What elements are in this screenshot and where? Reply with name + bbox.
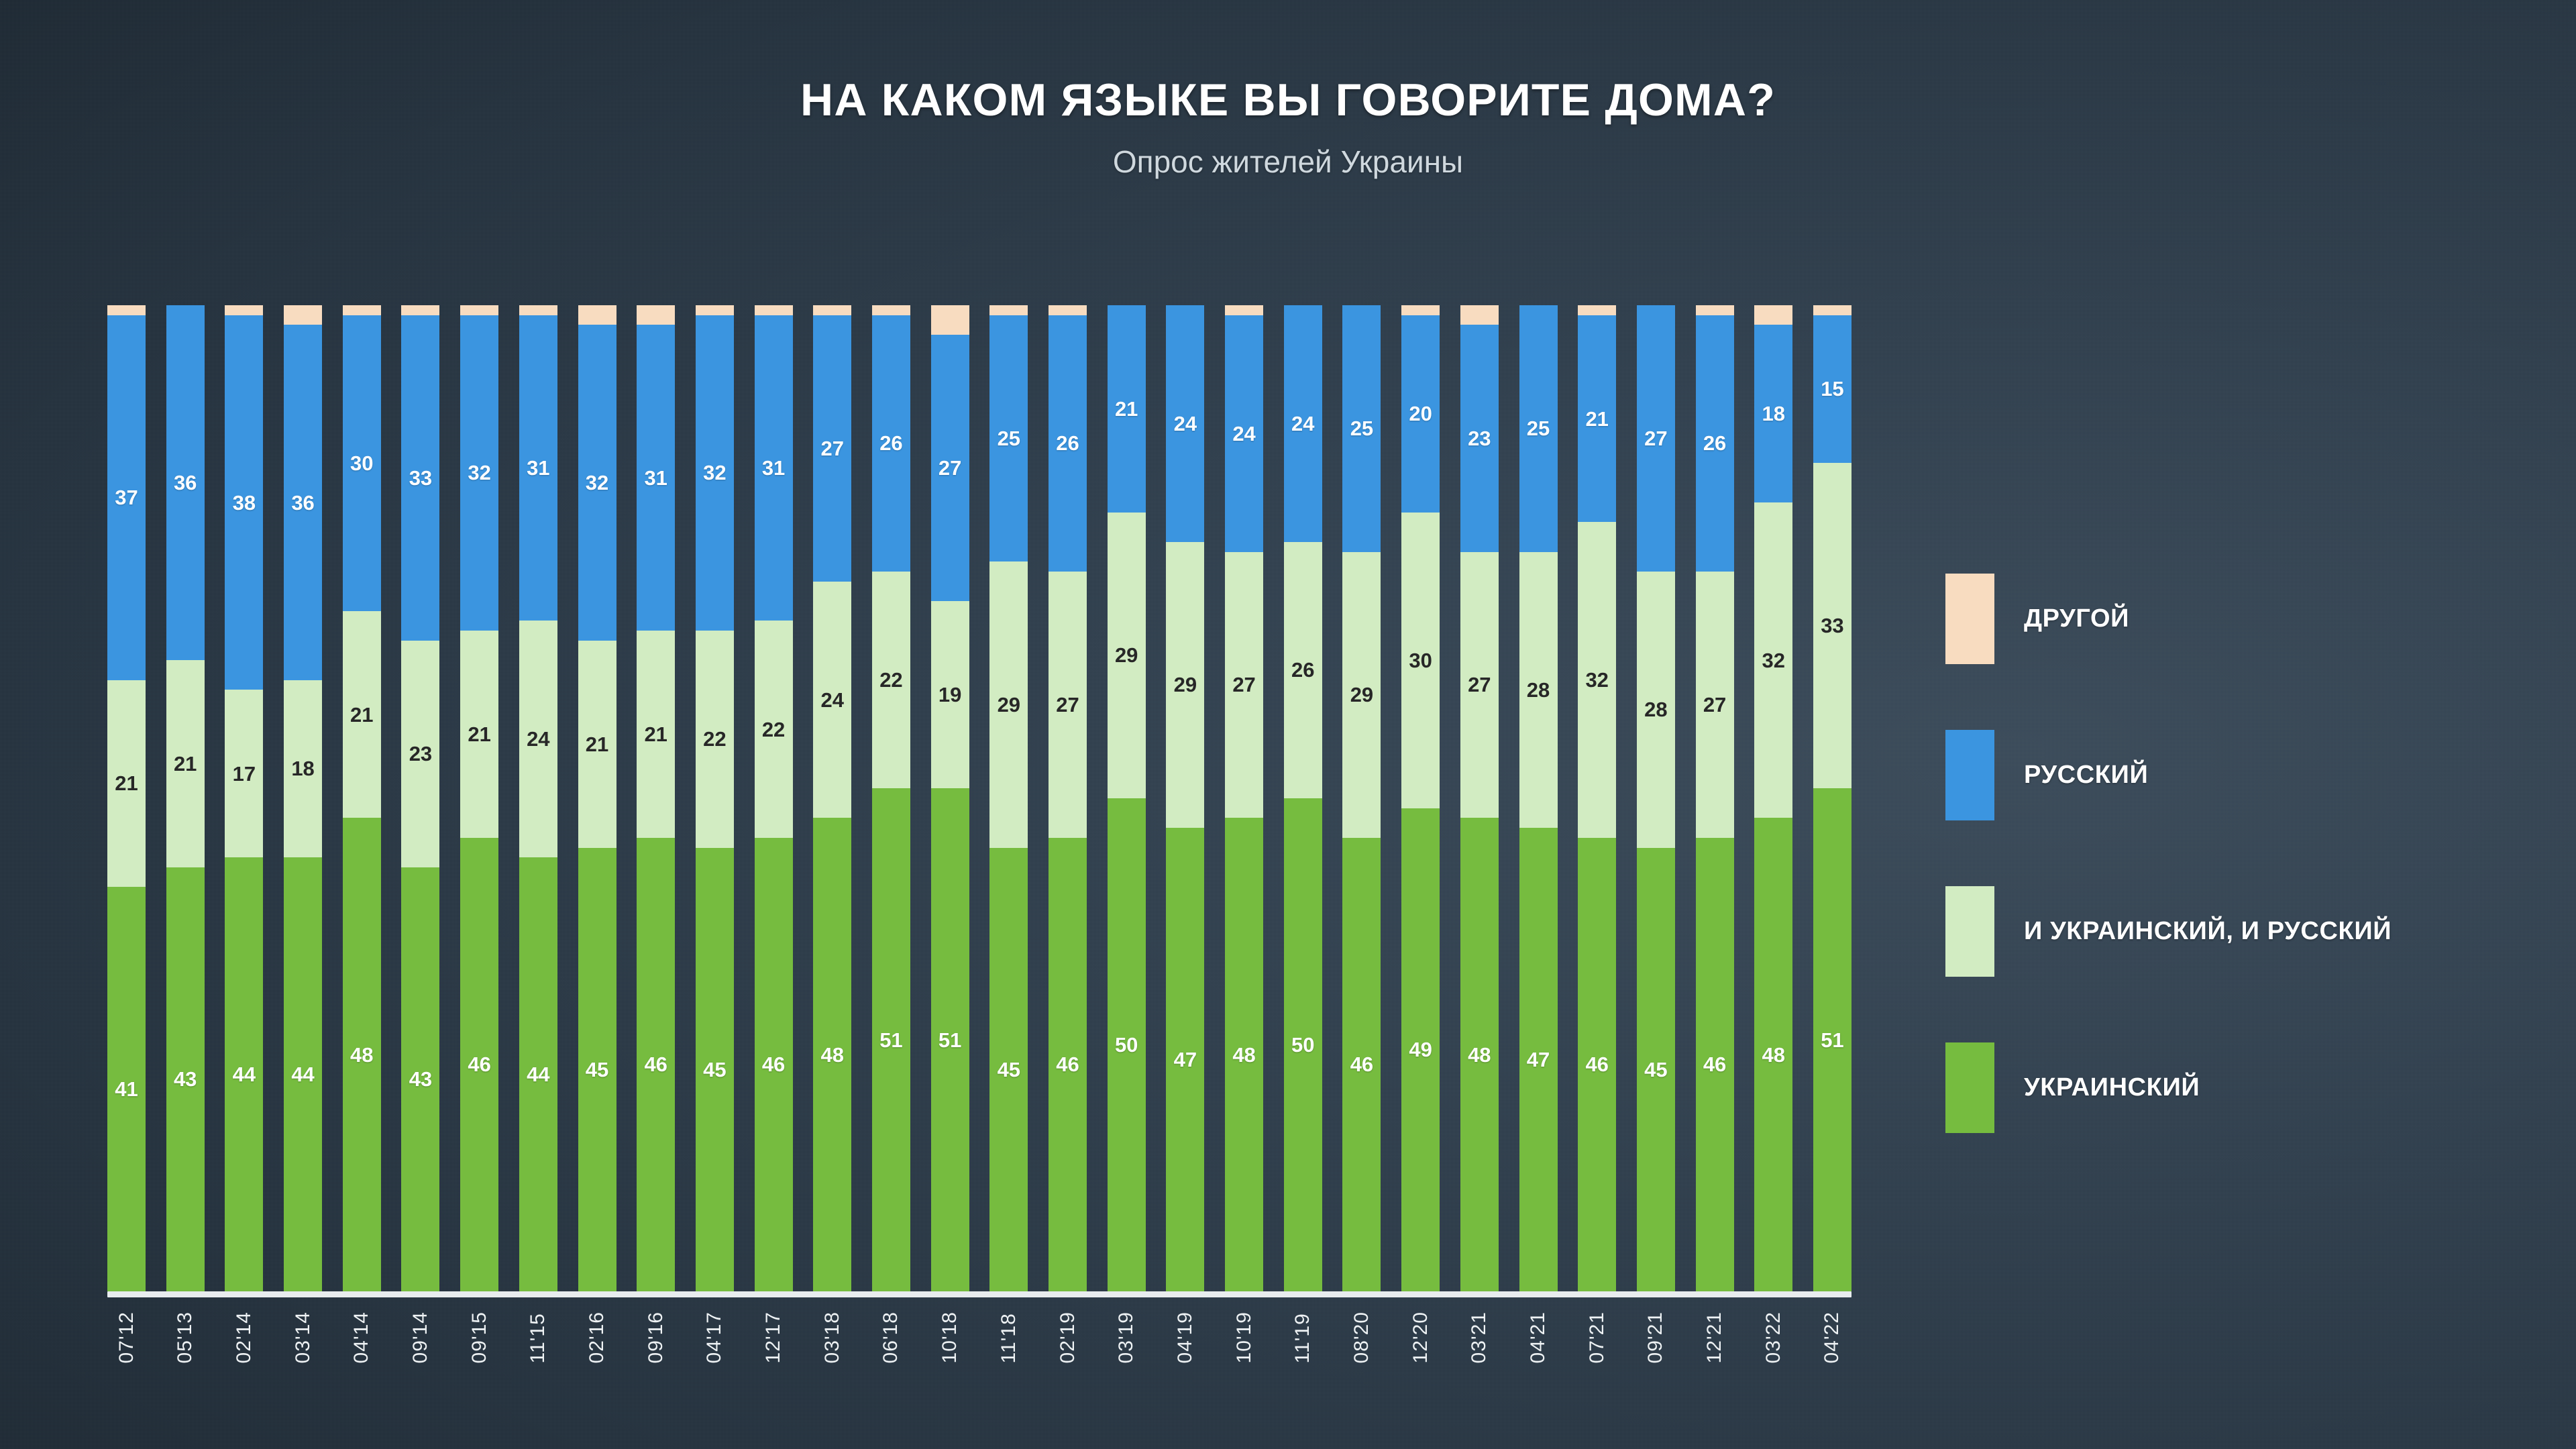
bar-segment-both[interactable]: 26 (1284, 542, 1322, 798)
bar-value-label: 17 (233, 763, 256, 784)
x-axis-tick-label: 11'19 (1291, 1311, 1314, 1363)
bar-segment-both[interactable]: 27 (1225, 552, 1263, 818)
x-axis-tick-label: 08'20 (1350, 1311, 1373, 1363)
x-axis-tick-label: 12'21 (1703, 1311, 1726, 1363)
bar-value-label: 24 (821, 690, 844, 710)
bar-column[interactable]: 312246 (755, 305, 793, 1291)
bar-segment-ukrainian[interactable]: 44 (519, 857, 557, 1291)
bar-segment-both[interactable]: 27 (1460, 552, 1499, 818)
bar-segment-russian[interactable]: 31 (519, 315, 557, 621)
x-axis-tick-label: 03'18 (821, 1311, 844, 1363)
bar-segment-both[interactable]: 27 (1049, 572, 1087, 838)
x-axis-tick: 09'16 (637, 1311, 675, 1363)
x-axis-tick-label: 09'14 (409, 1311, 432, 1363)
bar-value-label: 21 (586, 734, 608, 755)
bar-value-label: 30 (350, 453, 373, 474)
x-axis-tick: 08'20 (1342, 1311, 1381, 1363)
bar-segment-ukrainian[interactable]: 49 (1401, 808, 1440, 1291)
x-axis-tick-label: 07'21 (1586, 1311, 1609, 1363)
bar-segment-russian[interactable]: 26 (872, 315, 910, 572)
bar-value-label: 25 (1527, 418, 1550, 439)
x-axis-tick-label: 07'12 (115, 1311, 138, 1363)
x-axis-tick: 03'19 (1108, 1311, 1146, 1363)
bar-value-label: 49 (1409, 1039, 1432, 1060)
bar-segment-other[interactable] (1578, 305, 1616, 315)
bar-segment-both[interactable]: 21 (460, 631, 498, 838)
bar-segment-ukrainian[interactable]: 47 (1519, 828, 1558, 1291)
bar-segment-russian[interactable]: 25 (989, 315, 1028, 562)
x-axis-tick: 02'14 (225, 1311, 263, 1363)
bar-column[interactable]: 272845 (1637, 305, 1675, 1291)
bar-segment-ukrainian[interactable]: 48 (813, 818, 851, 1291)
bar-segment-ukrainian[interactable]: 46 (755, 838, 793, 1291)
bar-segment-russian[interactable]: 31 (755, 315, 793, 621)
bar-value-label: 21 (1585, 409, 1608, 429)
bar-segment-both[interactable]: 21 (166, 660, 205, 867)
bar-value-label: 32 (1585, 669, 1608, 690)
x-axis-tick-label: 04'22 (1821, 1311, 1843, 1363)
bar-segment-both[interactable]: 21 (637, 631, 675, 838)
x-axis-tick: 04'14 (343, 1311, 381, 1363)
bar-value-label: 27 (821, 438, 844, 459)
bar-segment-ukrainian[interactable]: 50 (1108, 798, 1146, 1291)
bar-value-label: 27 (1703, 694, 1726, 715)
bar-value-label: 31 (762, 458, 785, 478)
x-axis-tick-labels: 07'1205'1302'1403'1404'1409'1409'1511'15… (107, 1311, 1851, 1363)
bar-value-label: 25 (1350, 418, 1373, 439)
bar-segment-ukrainian[interactable]: 45 (989, 848, 1028, 1292)
bar-segment-ukrainian[interactable]: 50 (1284, 798, 1322, 1291)
bar-segment-russian[interactable]: 36 (166, 305, 205, 660)
bar-segment-other[interactable] (1460, 305, 1499, 325)
x-axis-tick-label: 03'14 (292, 1311, 315, 1363)
bar-segment-both[interactable]: 27 (1696, 572, 1734, 838)
bar-column[interactable]: 262746 (1049, 305, 1087, 1291)
x-axis-tick: 07'12 (107, 1311, 146, 1363)
legend-label: УКРАИНСКИЙ (2024, 1073, 2200, 1102)
bar-segment-ukrainian[interactable]: 44 (284, 857, 322, 1291)
bar-value-label: 22 (762, 719, 785, 740)
bar-segment-russian[interactable]: 33 (401, 315, 439, 641)
bar-segment-russian[interactable]: 15 (1813, 315, 1851, 464)
bar-segment-both[interactable]: 21 (343, 611, 381, 818)
bar-segment-both[interactable]: 28 (1637, 572, 1675, 848)
x-axis-tick-label: 04'19 (1174, 1311, 1197, 1363)
x-axis-tick-label: 11'18 (998, 1311, 1020, 1363)
bar-segment-russian[interactable]: 24 (1284, 305, 1322, 542)
x-axis-tick-label: 10'19 (1233, 1311, 1256, 1363)
bar-segment-other[interactable] (401, 305, 439, 315)
legend-swatch-both (1945, 886, 1994, 977)
bar-segment-both[interactable]: 32 (1578, 522, 1616, 837)
bar-value-label: 33 (1821, 615, 1843, 636)
bar-segment-other[interactable] (519, 305, 557, 315)
bar-value-label: 47 (1174, 1049, 1197, 1070)
legend-item-both[interactable]: И УКРАИНСКИЙ, И РУССКИЙ (1945, 886, 2392, 977)
x-axis-line (107, 1291, 1851, 1297)
bar-value-label: 24 (1291, 413, 1314, 434)
bar-segment-other[interactable] (225, 305, 263, 315)
bar-value-label: 20 (1409, 403, 1432, 424)
bar-segment-other[interactable] (107, 305, 146, 315)
bar-segment-russian[interactable]: 26 (1696, 315, 1734, 572)
x-axis-tick: 06'18 (872, 1311, 910, 1363)
bar-value-label: 26 (1291, 659, 1314, 680)
bar-segment-russian[interactable]: 32 (696, 315, 734, 631)
x-axis-tick-label: 03'22 (1762, 1311, 1785, 1363)
bar-value-label: 21 (468, 724, 490, 745)
x-axis-tick: 10'18 (931, 1311, 969, 1363)
bar-value-label: 28 (1527, 680, 1550, 700)
x-axis-tick: 10'19 (1225, 1311, 1263, 1363)
bar-segment-both[interactable]: 23 (401, 641, 439, 867)
bar-segment-both[interactable]: 18 (284, 680, 322, 858)
bar-value-label: 43 (409, 1069, 432, 1089)
bar-value-label: 32 (586, 472, 608, 493)
bar-segment-ukrainian[interactable]: 48 (1225, 818, 1263, 1291)
x-axis-tick: 09'14 (401, 1311, 439, 1363)
bar-segment-ukrainian[interactable]: 51 (1813, 788, 1851, 1291)
x-axis-tick: 12'21 (1696, 1311, 1734, 1363)
bar-value-label: 48 (350, 1044, 373, 1065)
bar-value-label: 44 (233, 1064, 256, 1085)
bar-value-label: 18 (291, 758, 314, 779)
x-axis-tick-label: 05'13 (174, 1311, 197, 1363)
bar-segment-other[interactable] (1754, 305, 1792, 325)
bar-segment-both[interactable]: 17 (225, 690, 263, 857)
bar-segment-ukrainian[interactable]: 46 (637, 838, 675, 1291)
bar-segment-ukrainian[interactable]: 51 (931, 788, 969, 1291)
bar-segment-other[interactable] (1225, 305, 1263, 315)
bar-column[interactable]: 322145 (578, 305, 616, 1291)
x-axis-tick: 12'20 (1401, 1311, 1440, 1363)
x-axis-tick: 03'21 (1460, 1311, 1499, 1363)
bar-value-label: 26 (879, 433, 902, 453)
bar-column[interactable]: 262251 (872, 305, 910, 1291)
bar-segment-russian[interactable]: 25 (1519, 305, 1558, 552)
bar-column[interactable]: 381744 (225, 305, 263, 1291)
bar-segment-russian[interactable]: 32 (460, 315, 498, 631)
x-axis-tick: 02'19 (1049, 1311, 1087, 1363)
bar-column[interactable]: 213246 (1578, 305, 1616, 1291)
bar-column[interactable]: 203049 (1401, 305, 1440, 1291)
legend-label: И УКРАИНСКИЙ, И РУССКИЙ (2024, 917, 2392, 946)
bar-segment-russian[interactable]: 21 (1578, 315, 1616, 523)
bar-value-label: 51 (1821, 1030, 1843, 1051)
bar-column[interactable]: 312146 (637, 305, 675, 1291)
x-axis-tick: 03'22 (1754, 1311, 1792, 1363)
bar-segment-ukrainian[interactable]: 45 (696, 848, 734, 1292)
x-axis-tick: 11'15 (519, 1311, 557, 1363)
bar-segment-other[interactable] (578, 305, 616, 325)
bar-value-label: 50 (1291, 1034, 1314, 1055)
bar-segment-russian[interactable]: 27 (813, 315, 851, 582)
bar-value-label: 25 (998, 428, 1020, 449)
bar-column[interactable]: 252945 (989, 305, 1028, 1291)
bar-value-label: 21 (174, 753, 197, 774)
bar-value-label: 46 (1350, 1054, 1373, 1075)
bar-segment-russian[interactable]: 21 (1108, 305, 1146, 513)
bar-column[interactable]: 361844 (284, 305, 322, 1291)
bar-value-label: 48 (821, 1044, 844, 1065)
bar-value-label: 46 (1585, 1054, 1608, 1075)
bar-column[interactable]: 232748 (1460, 305, 1499, 1291)
bar-column[interactable]: 372141 (107, 305, 146, 1291)
bar-segment-other[interactable] (343, 305, 381, 315)
bar-value-label: 22 (703, 729, 726, 749)
bar-column[interactable]: 242947 (1166, 305, 1204, 1291)
bar-segment-russian[interactable]: 37 (107, 315, 146, 680)
chart-header: НА КАКОМ ЯЗЫКЕ ВЫ ГОВОРИТЕ ДОМА? Опрос ж… (0, 0, 2576, 180)
page-title: НА КАКОМ ЯЗЫКЕ ВЫ ГОВОРИТЕ ДОМА? (0, 74, 2576, 126)
bar-segment-ukrainian[interactable]: 45 (1637, 848, 1675, 1292)
bar-column[interactable]: 212950 (1108, 305, 1146, 1291)
bar-segment-other[interactable] (1696, 305, 1734, 315)
bar-value-label: 24 (527, 729, 549, 749)
stacked-bar-group: 3721413621433817443618443021483323433221… (107, 305, 1851, 1291)
bar-segment-both[interactable]: 24 (813, 582, 851, 818)
bar-column[interactable]: 362143 (166, 305, 205, 1291)
bar-value-label: 43 (174, 1069, 197, 1089)
bar-segment-russian[interactable]: 30 (343, 315, 381, 611)
bar-segment-ukrainian[interactable]: 48 (343, 818, 381, 1291)
bar-segment-both[interactable]: 29 (1108, 513, 1146, 798)
bar-value-label: 46 (468, 1054, 490, 1075)
legend-item-russian[interactable]: РУССКИЙ (1945, 730, 2392, 820)
x-axis-tick-label: 04'21 (1527, 1311, 1550, 1363)
bar-segment-russian[interactable]: 27 (1637, 305, 1675, 572)
bar-value-label: 46 (644, 1054, 667, 1075)
bar-segment-russian[interactable]: 36 (284, 325, 322, 680)
bar-value-label: 31 (644, 468, 667, 488)
x-axis-tick: 04'21 (1519, 1311, 1558, 1363)
bar-segment-ukrainian[interactable]: 51 (872, 788, 910, 1291)
bar-segment-ukrainian[interactable]: 47 (1166, 828, 1204, 1291)
bar-value-label: 48 (1232, 1044, 1255, 1065)
bar-value-label: 46 (1056, 1054, 1079, 1075)
x-axis-tick: 09'15 (460, 1311, 498, 1363)
bar-segment-both[interactable]: 22 (872, 572, 910, 788)
bar-segment-other[interactable] (460, 305, 498, 315)
bar-column[interactable]: 153351 (1813, 305, 1851, 1291)
bar-value-label: 29 (998, 694, 1020, 715)
bar-segment-ukrainian[interactable]: 46 (460, 838, 498, 1291)
bar-segment-ukrainian[interactable]: 44 (225, 857, 263, 1291)
bar-value-label: 26 (1703, 433, 1726, 453)
bar-value-label: 46 (762, 1054, 785, 1075)
x-axis-tick-label: 12'20 (1409, 1311, 1432, 1363)
x-axis-tick-label: 02'14 (233, 1311, 256, 1363)
bar-value-label: 21 (1115, 398, 1138, 419)
bar-segment-russian[interactable]: 18 (1754, 325, 1792, 502)
bar-value-label: 37 (115, 487, 138, 508)
x-axis-tick-label: 09'21 (1644, 1311, 1667, 1363)
bar-value-label: 28 (1644, 699, 1667, 720)
bar-value-label: 15 (1821, 378, 1843, 399)
bar-segment-both[interactable]: 21 (107, 680, 146, 888)
bar-segment-russian[interactable]: 23 (1460, 325, 1499, 551)
x-axis-tick-label: 11'15 (527, 1311, 549, 1363)
x-axis-tick-label: 03'21 (1468, 1311, 1491, 1363)
bar-segment-both[interactable]: 29 (1166, 542, 1204, 828)
bar-segment-ukrainian[interactable]: 46 (1049, 838, 1087, 1291)
bar-value-label: 41 (115, 1079, 138, 1099)
bar-segment-both[interactable]: 22 (755, 621, 793, 837)
bar-segment-other[interactable] (1401, 305, 1440, 315)
bar-segment-ukrainian[interactable]: 46 (1696, 838, 1734, 1291)
bar-value-label: 45 (998, 1059, 1020, 1080)
bar-value-label: 48 (1468, 1044, 1491, 1065)
bar-segment-russian[interactable]: 24 (1166, 305, 1204, 542)
bar-column[interactable]: 332343 (401, 305, 439, 1291)
page-subtitle: Опрос жителей Украины (0, 144, 2576, 180)
bar-segment-ukrainian[interactable]: 43 (166, 867, 205, 1291)
bar-segment-russian[interactable]: 27 (931, 335, 969, 601)
bar-value-label: 24 (1174, 413, 1197, 434)
bar-segment-other[interactable] (872, 305, 910, 315)
legend-swatch-other (1945, 574, 1994, 664)
x-axis-tick: 02'16 (578, 1311, 616, 1363)
bar-column[interactable]: 242748 (1225, 305, 1263, 1291)
bar-value-label: 21 (350, 704, 373, 725)
bar-value-label: 23 (1468, 428, 1491, 449)
bar-value-label: 27 (1232, 674, 1255, 695)
x-axis-tick: 07'21 (1578, 1311, 1616, 1363)
bar-value-label: 21 (644, 724, 667, 745)
legend-item-other[interactable]: ДРУГОЙ (1945, 574, 2392, 664)
bar-segment-other[interactable] (696, 305, 734, 315)
bar-value-label: 26 (1056, 433, 1079, 453)
x-axis-tick-label: 04'17 (703, 1311, 726, 1363)
bar-value-label: 51 (938, 1030, 961, 1051)
bar-value-label: 22 (879, 669, 902, 690)
bar-segment-ukrainian[interactable]: 43 (401, 867, 439, 1291)
bar-column[interactable]: 302148 (343, 305, 381, 1291)
bar-column[interactable]: 271951 (931, 305, 969, 1291)
bar-segment-both[interactable]: 22 (696, 631, 734, 847)
bar-value-label: 33 (409, 468, 432, 488)
bar-column[interactable]: 252847 (1519, 305, 1558, 1291)
bar-segment-ukrainian[interactable]: 48 (1460, 818, 1499, 1291)
x-axis-tick: 09'21 (1637, 1311, 1675, 1363)
bar-segment-ukrainian[interactable]: 46 (1578, 838, 1616, 1291)
bar-segment-both[interactable]: 21 (578, 641, 616, 848)
bar-segment-both[interactable]: 30 (1401, 513, 1440, 808)
bar-segment-russian[interactable]: 24 (1225, 315, 1263, 552)
bar-value-label: 46 (1703, 1054, 1726, 1075)
bar-value-label: 27 (1056, 694, 1079, 715)
bar-segment-ukrainian[interactable]: 41 (107, 887, 146, 1291)
x-axis-tick-label: 09'15 (468, 1311, 491, 1363)
chart-legend: ДРУГОЙРУССКИЙИ УКРАИНСКИЙ, И РУССКИЙУКРА… (1945, 574, 2392, 1133)
bar-value-label: 19 (938, 684, 961, 705)
bar-column[interactable]: 252946 (1342, 305, 1381, 1291)
bar-column[interactable]: 312444 (519, 305, 557, 1291)
bar-value-label: 47 (1527, 1049, 1550, 1070)
x-axis-tick: 03'14 (284, 1311, 322, 1363)
x-axis-tick-label: 06'18 (879, 1311, 902, 1363)
x-axis-tick-label: 04'14 (350, 1311, 373, 1363)
x-axis-tick: 04'19 (1166, 1311, 1204, 1363)
bar-segment-russian[interactable]: 38 (225, 315, 263, 690)
bar-value-label: 27 (1468, 674, 1491, 695)
x-axis-tick: 04'22 (1813, 1311, 1851, 1363)
bar-value-label: 24 (1232, 423, 1255, 444)
bar-column[interactable]: 242650 (1284, 305, 1322, 1291)
bar-segment-both[interactable]: 29 (989, 561, 1028, 847)
bar-segment-other[interactable] (1813, 305, 1851, 315)
bar-segment-both[interactable]: 29 (1342, 552, 1381, 838)
x-axis-tick-label: 02'16 (586, 1311, 608, 1363)
bar-column[interactable]: 322245 (696, 305, 734, 1291)
legend-label: ДРУГОЙ (2024, 604, 2129, 633)
bar-value-label: 21 (115, 773, 138, 794)
x-axis-tick: 12'17 (755, 1311, 793, 1363)
bar-value-label: 23 (409, 743, 432, 764)
bar-segment-other[interactable] (755, 305, 793, 315)
bar-value-label: 38 (233, 492, 256, 513)
x-axis-tick: 04'17 (696, 1311, 734, 1363)
bar-value-label: 36 (291, 492, 314, 513)
x-axis-tick-label: 09'16 (645, 1311, 667, 1363)
bar-segment-russian[interactable]: 25 (1342, 305, 1381, 552)
bar-value-label: 29 (1174, 674, 1197, 695)
bar-segment-ukrainian[interactable]: 46 (1342, 838, 1381, 1291)
x-axis-tick: 05'13 (166, 1311, 205, 1363)
bar-segment-both[interactable]: 28 (1519, 552, 1558, 828)
bar-segment-both[interactable]: 19 (931, 601, 969, 788)
bar-column[interactable]: 322146 (460, 305, 498, 1291)
legend-swatch-russian (1945, 730, 1994, 820)
x-axis-tick-label: 10'18 (938, 1311, 961, 1363)
chart-plot-area: 3721413621433817443618443021483323433221… (107, 305, 1851, 1291)
bar-segment-both[interactable]: 33 (1813, 463, 1851, 788)
bar-segment-russian[interactable]: 32 (578, 325, 616, 640)
bar-segment-other[interactable] (284, 305, 322, 325)
bar-segment-other[interactable] (989, 305, 1028, 315)
x-axis-tick-label: 12'17 (762, 1311, 785, 1363)
bar-value-label: 18 (1762, 403, 1785, 424)
bar-column[interactable]: 272448 (813, 305, 851, 1291)
x-axis-tick: 03'18 (813, 1311, 851, 1363)
bar-value-label: 45 (1644, 1059, 1667, 1080)
legend-item-ukrainian[interactable]: УКРАИНСКИЙ (1945, 1042, 2392, 1133)
bar-segment-russian[interactable]: 31 (637, 325, 675, 631)
bar-segment-other[interactable] (813, 305, 851, 315)
bar-value-label: 32 (468, 462, 490, 483)
bar-segment-ukrainian[interactable]: 45 (578, 848, 616, 1292)
bar-segment-russian[interactable]: 20 (1401, 315, 1440, 513)
bar-value-label: 44 (291, 1064, 314, 1085)
bar-column[interactable]: 262746 (1696, 305, 1734, 1291)
bar-segment-both[interactable]: 24 (519, 621, 557, 857)
bar-segment-ukrainian[interactable]: 48 (1754, 818, 1792, 1291)
bar-value-label: 45 (703, 1059, 726, 1080)
bar-segment-other[interactable] (637, 305, 675, 325)
bar-segment-other[interactable] (1049, 305, 1087, 315)
x-axis-tick: 11'19 (1284, 1311, 1322, 1363)
bar-value-label: 51 (879, 1030, 902, 1051)
bar-value-label: 50 (1115, 1034, 1138, 1055)
bar-column[interactable]: 183248 (1754, 305, 1792, 1291)
legend-swatch-ukrainian (1945, 1042, 1994, 1133)
bar-value-label: 45 (586, 1059, 608, 1080)
bar-segment-russian[interactable]: 26 (1049, 315, 1087, 572)
bar-segment-other[interactable] (931, 305, 969, 335)
x-axis-tick-label: 02'19 (1057, 1311, 1079, 1363)
bar-segment-both[interactable]: 32 (1754, 502, 1792, 818)
bar-value-label: 27 (1644, 428, 1667, 449)
